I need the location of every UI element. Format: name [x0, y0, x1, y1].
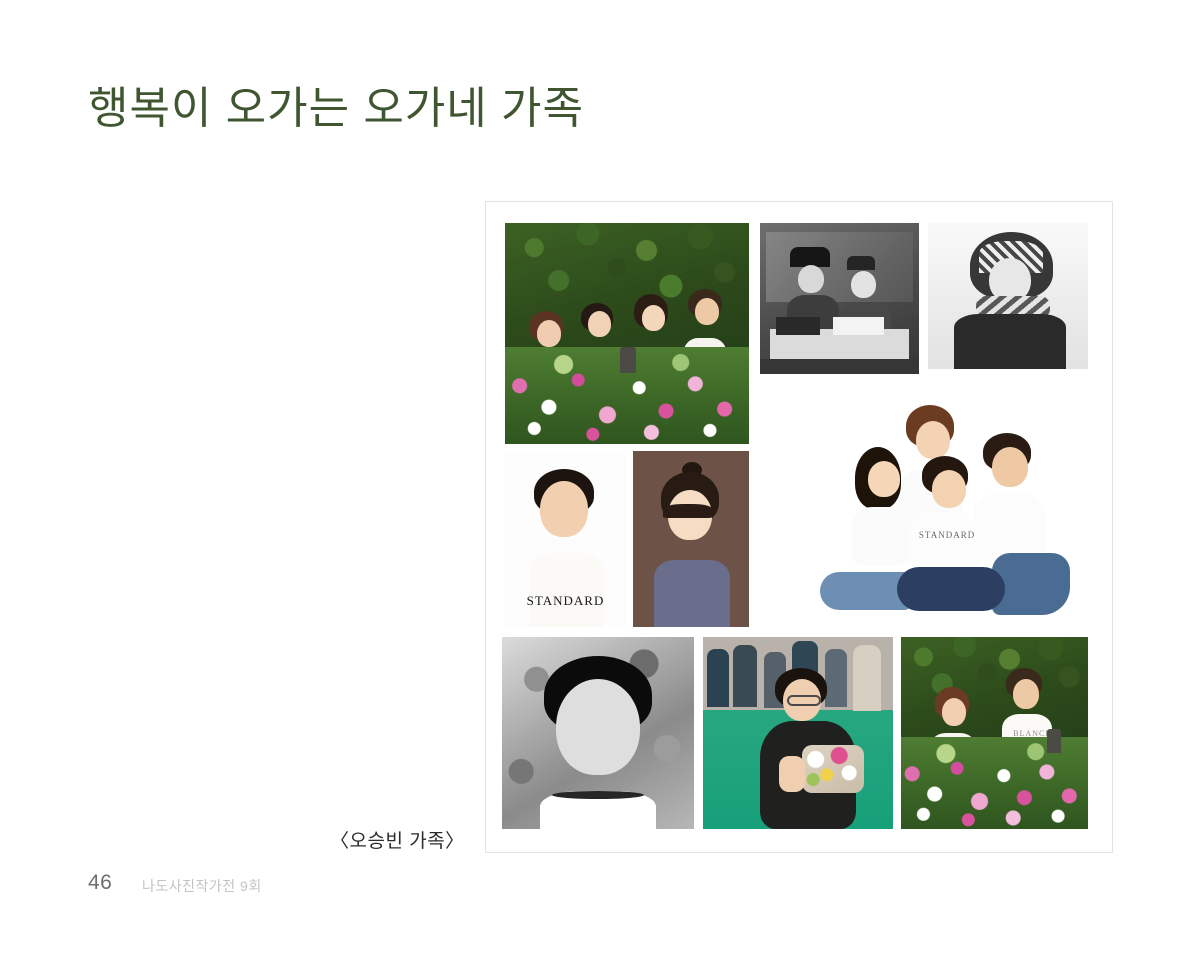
photo-child-portrait-bw	[502, 637, 694, 829]
photo-studio-family-portrait: STANDARD	[769, 396, 1088, 627]
footer-label: 나도사진작가전 9회	[142, 876, 262, 896]
photo-couple-in-garden: BLANCHE	[901, 637, 1088, 829]
photo-family-garden-flowers	[505, 223, 749, 444]
photo-caption: 〈오승빈 가족〉	[330, 826, 465, 853]
photo-collage-panel: STANDARD	[485, 201, 1113, 853]
photo-child-in-snow	[928, 223, 1088, 369]
photo-daughter-id-portrait	[633, 451, 749, 627]
photo-graduation-bouquet	[703, 637, 893, 829]
slide-page: 행복이 오가는 오가네 가족	[0, 0, 1200, 969]
son-shirt-text: STANDARD	[505, 593, 626, 609]
page-title: 행복이 오가는 오가네 가족	[88, 84, 584, 135]
studio-shirt-text: STANDARD	[919, 530, 975, 540]
footer-page-number: 46	[88, 871, 112, 895]
photo-son-id-portrait: STANDARD	[505, 451, 626, 627]
photo-traditional-wedding	[760, 223, 919, 374]
